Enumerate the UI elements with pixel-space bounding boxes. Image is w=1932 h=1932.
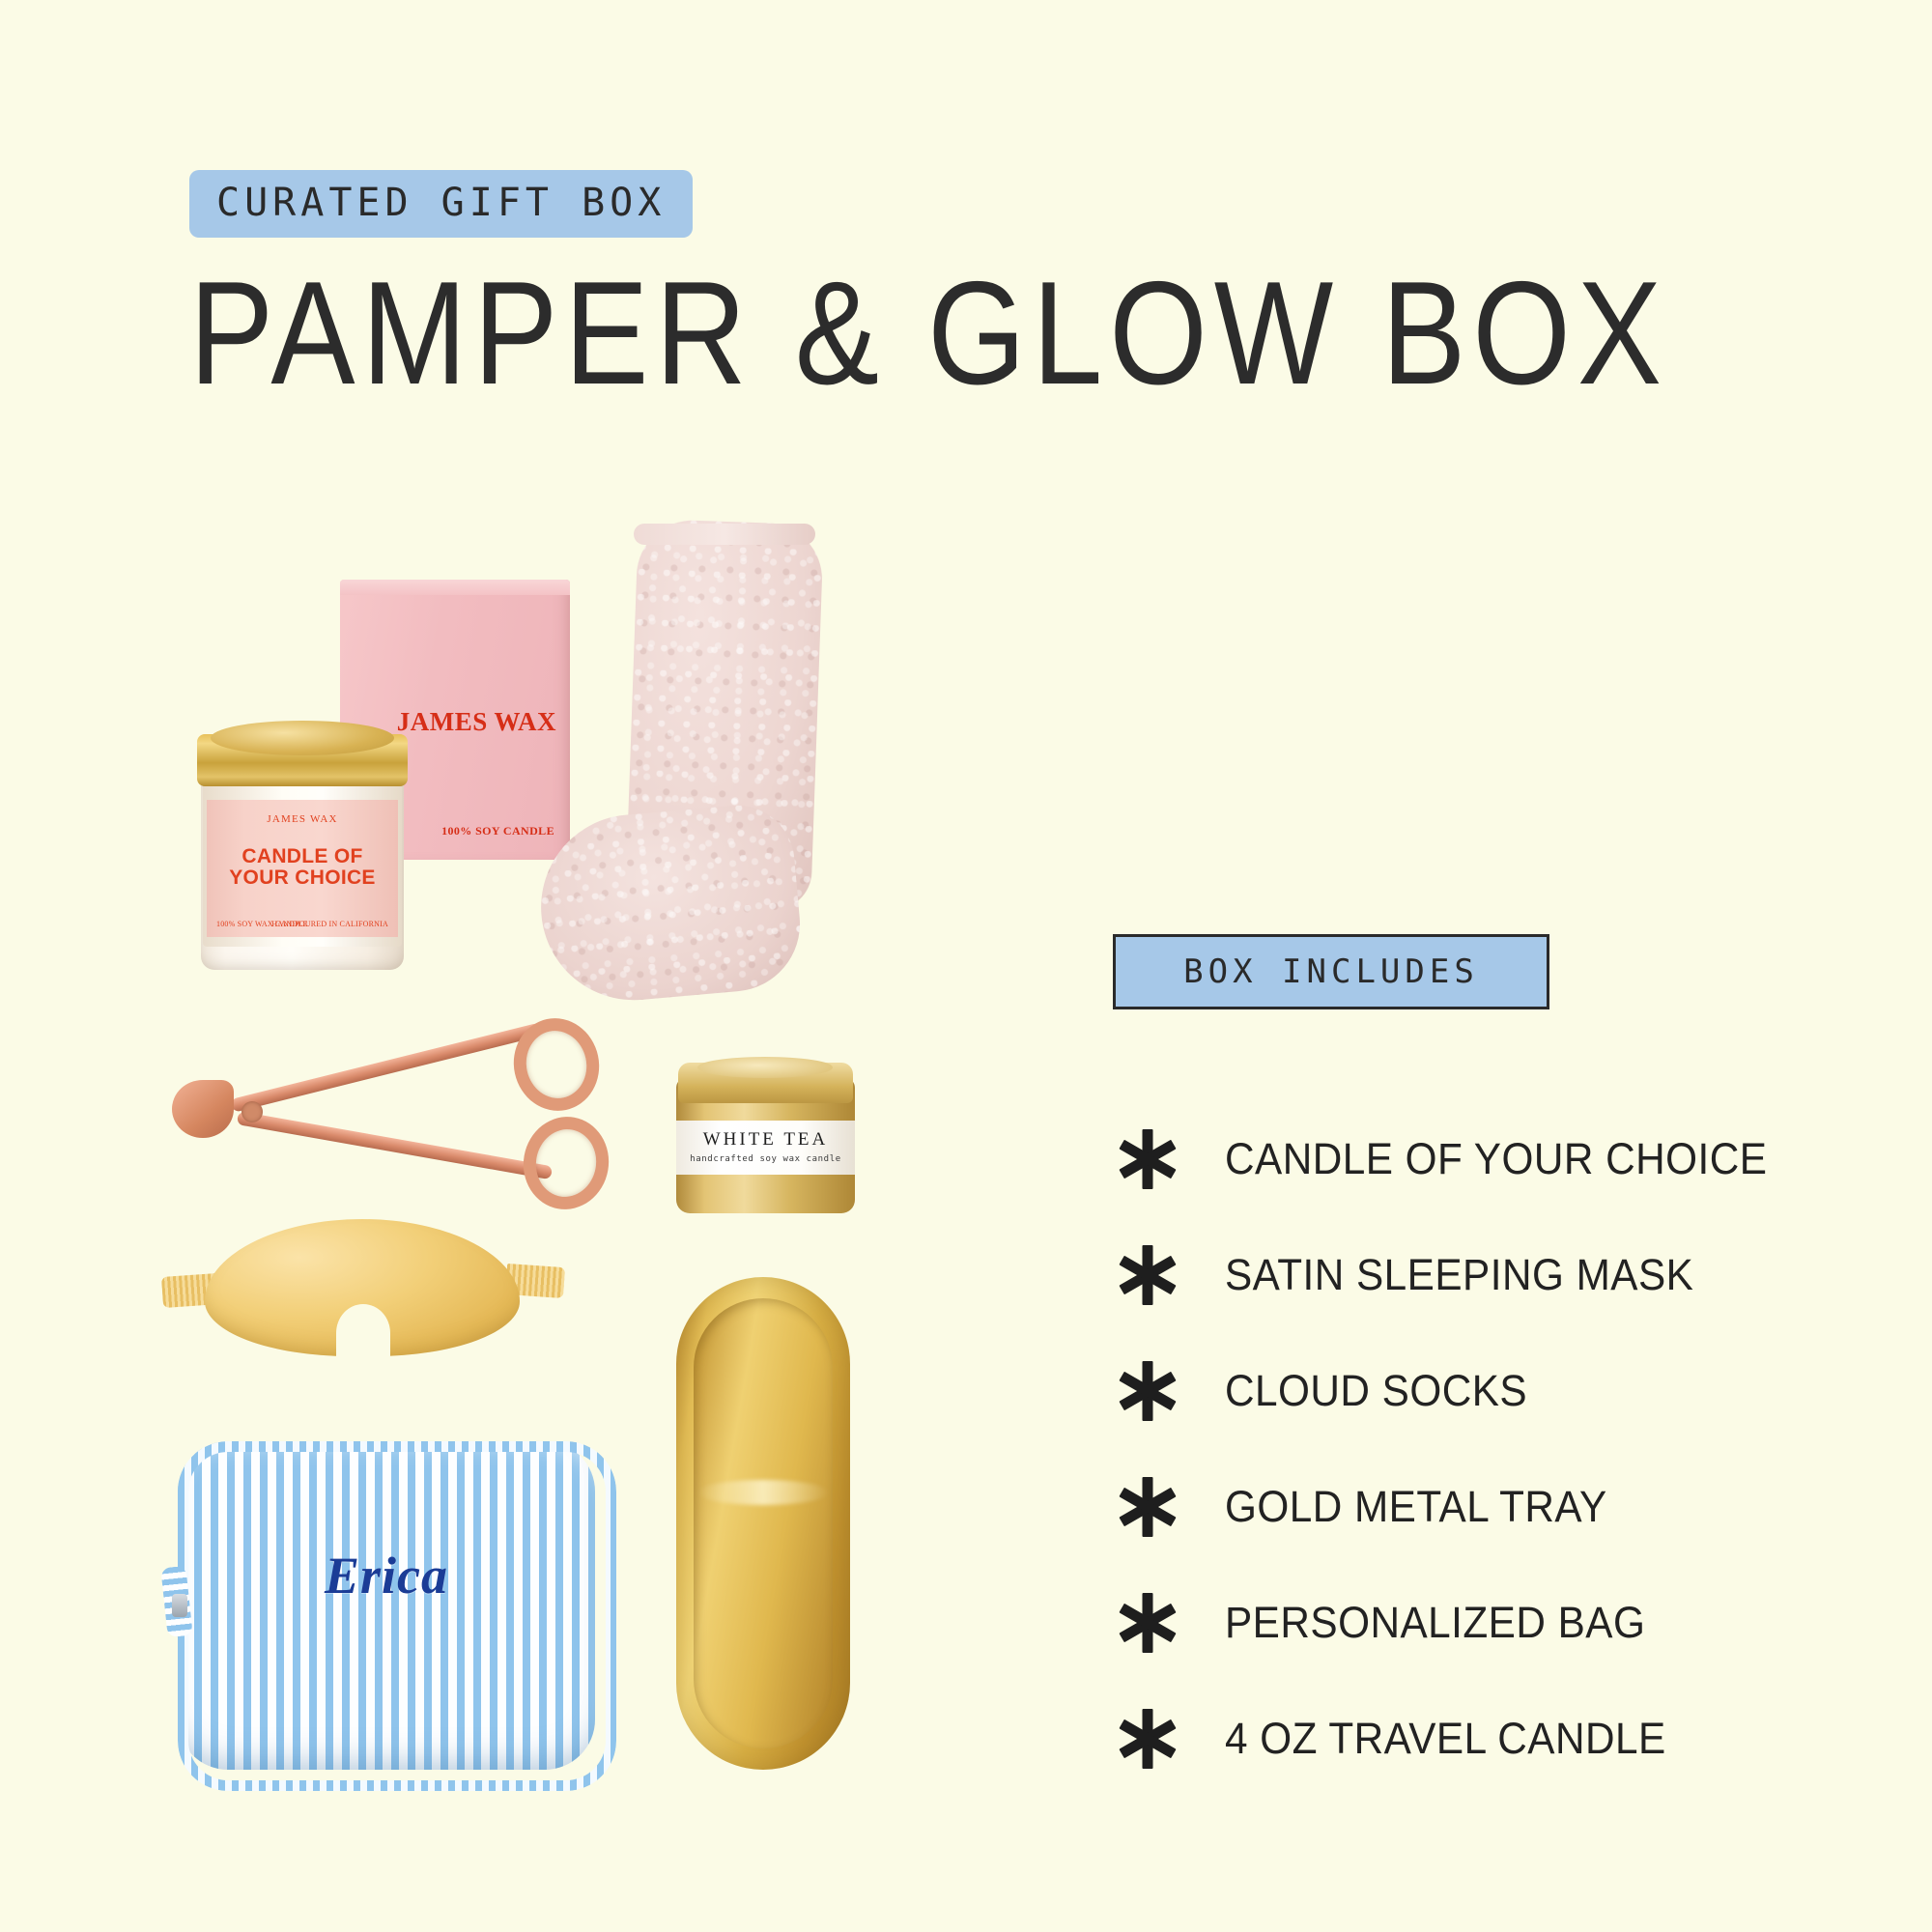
jar-headline-line1: CANDLE OF <box>207 846 398 867</box>
tin-label: WHITE TEA handcrafted soy wax candle <box>676 1121 855 1175</box>
product-personalized-bag: Erica <box>164 1432 609 1779</box>
sock-cuff <box>634 524 815 545</box>
asterisk-icon <box>1113 1472 1182 1542</box>
list-item-label: 4 OZ TRAVEL CANDLE <box>1225 1714 1666 1764</box>
tin-caption: handcrafted soy wax candle <box>676 1154 855 1164</box>
box-includes-list: CANDLE OF YOUR CHOICE SATIN SLEEPING MAS… <box>1113 1101 1847 1797</box>
poster-canvas: CURATED GIFT BOX PAMPER & GLOW BOX JAMES… <box>0 0 1932 1932</box>
sock-texture <box>533 801 806 1008</box>
list-item-label: CANDLE OF YOUR CHOICE <box>1225 1134 1767 1184</box>
eyebrow-badge: CURATED GIFT BOX <box>189 170 693 238</box>
list-item: CANDLE OF YOUR CHOICE <box>1113 1101 1847 1217</box>
jar-lid-top <box>211 721 394 755</box>
list-item-label: PERSONALIZED BAG <box>1225 1598 1645 1648</box>
trimmer-blade-head <box>172 1080 234 1138</box>
jar-headline: CANDLE OF YOUR CHOICE <box>207 846 398 889</box>
pouch-body <box>178 1441 595 1770</box>
asterisk-icon <box>1113 1240 1182 1310</box>
box-lid-edge <box>340 580 570 595</box>
trimmer-arm-upper <box>230 1022 543 1112</box>
list-item-label: SATIN SLEEPING MASK <box>1225 1250 1693 1300</box>
tray-highlight <box>697 1480 829 1505</box>
trimmer-pivot-screw <box>241 1101 263 1122</box>
product-candle-jar: JAMES WAX CANDLE OF YOUR CHOICE 100% SOY… <box>193 688 412 970</box>
list-item: SATIN SLEEPING MASK <box>1113 1217 1847 1333</box>
product-gold-tray <box>676 1277 850 1770</box>
list-item: CLOUD SOCKS <box>1113 1333 1847 1449</box>
list-item: 4 OZ TRAVEL CANDLE <box>1113 1681 1847 1797</box>
tray-well <box>694 1298 833 1748</box>
list-item-label: GOLD METAL TRAY <box>1225 1482 1607 1532</box>
list-item: GOLD METAL TRAY <box>1113 1449 1847 1565</box>
asterisk-icon <box>1113 1588 1182 1658</box>
jar-label: JAMES WAX CANDLE OF YOUR CHOICE 100% SOY… <box>207 800 398 937</box>
jar-brand: JAMES WAX <box>207 813 398 825</box>
candle-box-caption: 100% SOY CANDLE <box>441 824 554 838</box>
product-cloud-socks <box>541 522 831 1063</box>
asterisk-icon <box>1113 1124 1182 1194</box>
list-item: PERSONALIZED BAG <box>1113 1565 1847 1681</box>
page-title: PAMPER & GLOW BOX <box>189 253 1668 414</box>
sock-foot <box>533 801 806 1008</box>
jar-headline-line2: YOUR CHOICE <box>207 867 398 889</box>
trimmer-handle-ring-lower <box>516 1110 615 1216</box>
tin-scent-name: WHITE TEA <box>676 1129 855 1151</box>
product-sleeping-mask <box>155 1209 570 1383</box>
mask-nose-notch <box>336 1304 390 1362</box>
jar-footer-right: HANDPOURED IN CALIFORNIA <box>271 920 388 928</box>
pouch-monogram: Erica <box>164 1546 609 1605</box>
product-wick-trimmer <box>155 1010 599 1194</box>
asterisk-icon <box>1113 1356 1182 1426</box>
box-includes-badge: BOX INCLUDES <box>1113 934 1549 1009</box>
asterisk-icon <box>1113 1704 1182 1774</box>
tin-lid-top <box>697 1057 833 1078</box>
list-item-label: CLOUD SOCKS <box>1225 1366 1527 1416</box>
trimmer-arm-lower <box>237 1111 553 1179</box>
product-travel-candle-tin: WHITE TEA handcrafted soy wax candle <box>676 1061 855 1215</box>
